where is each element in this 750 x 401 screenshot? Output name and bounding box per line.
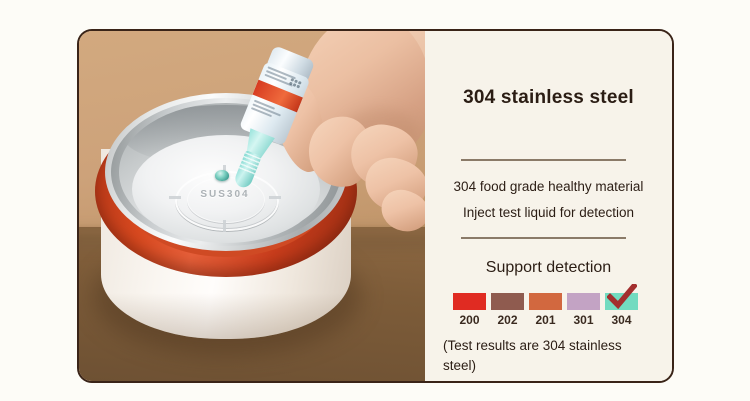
swatch-label-301: 301 [567, 313, 600, 327]
swatch-label-304: 304 [605, 313, 638, 327]
swatch-label-202: 202 [491, 313, 524, 327]
swatch-color-202 [491, 293, 524, 310]
swatch-item-201[interactable]: 201 [529, 293, 562, 327]
swatch-color-200 [453, 293, 486, 310]
divider-top [461, 159, 626, 161]
product-feature-card: SUS304 [77, 29, 674, 383]
embossed-spoke-bottom [223, 220, 226, 232]
swatch-item-202[interactable]: 202 [491, 293, 524, 327]
swatch-color-304 [605, 293, 638, 310]
detection-swatch-row: 200202201301304 [453, 293, 638, 327]
product-photo: SUS304 [79, 31, 425, 381]
support-detection-title: Support detection [425, 259, 672, 277]
info-panel: 304 stainless steel 304 food grade healt… [425, 31, 672, 381]
panel-heading: 304 stainless steel [425, 87, 672, 109]
embossed-spoke-left [169, 196, 181, 199]
swatch-color-201 [529, 293, 562, 310]
swatch-item-301[interactable]: 301 [567, 293, 600, 327]
swatch-color-301 [567, 293, 600, 310]
swatch-label-201: 201 [529, 313, 562, 327]
divider-bottom [461, 237, 626, 239]
test-result-note: (Test results are 304 stainless steel) [443, 336, 643, 375]
panel-subtitle-material: 304 food grade healthy material [425, 179, 672, 194]
panel-subtitle-instruction: Inject test liquid for detection [425, 205, 672, 220]
swatch-item-304[interactable]: 304 [605, 293, 638, 327]
page: SUS304 [0, 0, 750, 401]
swatch-item-200[interactable]: 200 [453, 293, 486, 327]
swatch-label-200: 200 [453, 313, 486, 327]
